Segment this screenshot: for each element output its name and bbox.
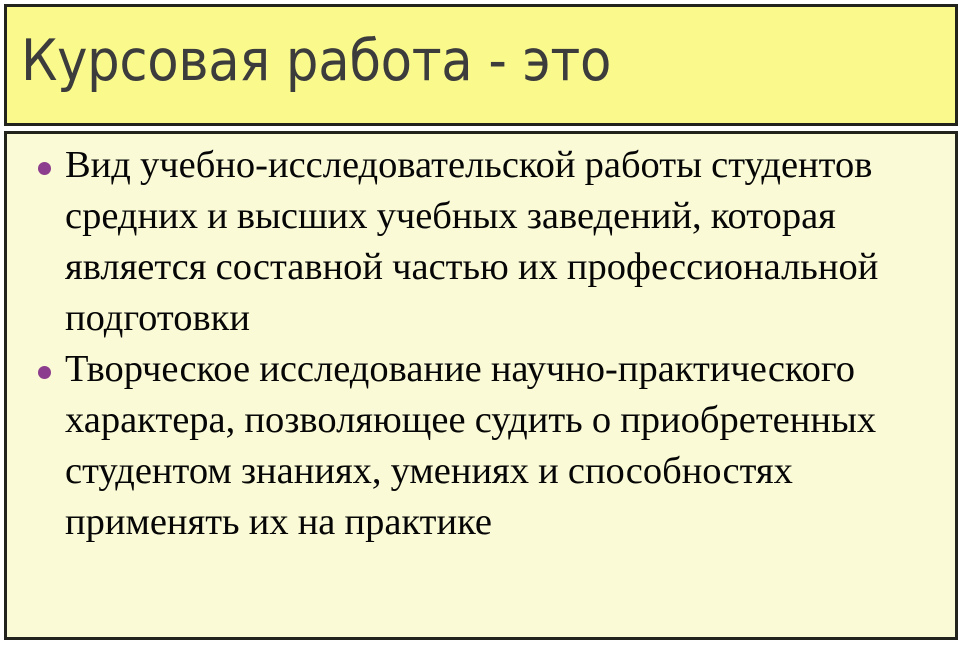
slide-title-box: Курсовая работа - это <box>4 4 958 126</box>
list-item: Вид учебно-исследовательской работы студ… <box>7 140 951 344</box>
slide-content-box: Вид учебно-исследовательской работы студ… <box>4 131 958 640</box>
bullet-list: Вид учебно-исследовательской работы студ… <box>7 140 951 548</box>
bullet-dot-icon <box>38 366 51 379</box>
list-item-text: Вид учебно-исследовательской работы студ… <box>65 140 941 344</box>
page-title: Курсовая работа - это <box>7 32 611 98</box>
list-item-text: Творческое исследование научно-практичес… <box>65 344 941 548</box>
bullet-dot-icon <box>38 162 51 175</box>
presentation-slide: Курсовая работа - это Вид учебно-исследо… <box>0 0 967 646</box>
list-item: Творческое исследование научно-практичес… <box>7 344 951 548</box>
